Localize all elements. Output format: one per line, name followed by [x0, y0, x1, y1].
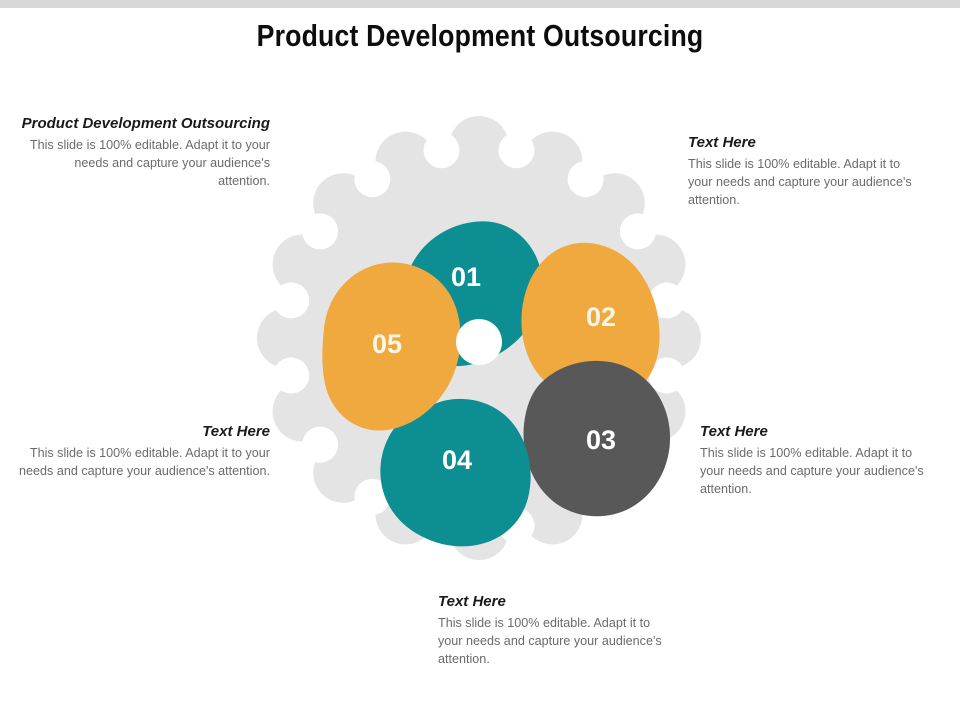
gear-segment-02-number: 02: [586, 302, 616, 332]
gear-segment-04-number: 04: [442, 445, 472, 475]
gear-five-step-diagram: 01 02 03 04 05: [251, 110, 707, 566]
callout-top-right-heading: Text Here: [688, 133, 924, 152]
gear-hub: [456, 319, 502, 365]
callout-bottom: Text Here This slide is 100% editable. A…: [438, 592, 678, 668]
callout-top-left-heading: Product Development Outsourcing: [20, 114, 270, 133]
callout-bottom-body: This slide is 100% editable. Adapt it to…: [438, 614, 678, 668]
slide-canvas: Product Development Outsourcing: [0, 0, 960, 720]
callout-middle-left: Text Here This slide is 100% editable. A…: [10, 422, 270, 480]
gear-segment-03[interactable]: 03: [524, 361, 671, 516]
gear-segment-05-number: 05: [372, 329, 402, 359]
page-title: Product Development Outsourcing: [67, 18, 893, 54]
callout-middle-right-body: This slide is 100% editable. Adapt it to…: [700, 444, 932, 498]
callout-middle-right-heading: Text Here: [700, 422, 932, 441]
callout-top-left: Product Development Outsourcing This sli…: [20, 114, 270, 190]
top-rule-divider: [0, 0, 960, 8]
gear-segment-01-number: 01: [451, 262, 481, 292]
gear-segment-03-number: 03: [586, 425, 616, 455]
callout-top-left-body: This slide is 100% editable. Adapt it to…: [20, 136, 270, 190]
bottom-rule-divider: [0, 712, 960, 720]
callout-middle-left-body: This slide is 100% editable. Adapt it to…: [10, 444, 270, 480]
callout-top-right: Text Here This slide is 100% editable. A…: [688, 133, 924, 209]
callout-bottom-heading: Text Here: [438, 592, 678, 611]
callout-middle-left-heading: Text Here: [10, 422, 270, 441]
callout-middle-right: Text Here This slide is 100% editable. A…: [700, 422, 932, 498]
callout-top-right-body: This slide is 100% editable. Adapt it to…: [688, 155, 924, 209]
